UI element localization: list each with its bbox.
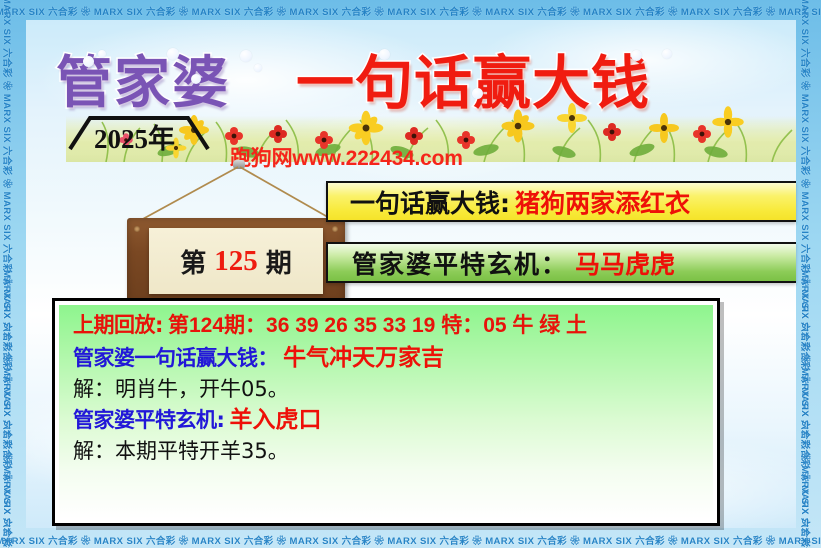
issue-prefix: 第 [180,243,206,280]
issue-suffix: 期 [266,243,292,280]
prev-phrase-value: 牛气冲天万家吉 [283,345,444,371]
prev-phrase-answer-row: 解：明肖牛，开牛05。 [73,379,699,400]
sign-paper: 第 125 期 [149,228,323,294]
bubble-decoration-3 [167,48,179,60]
banner-phrase-label: 一句话赢大钱: [350,189,510,218]
title-zone: 管家婆 一句话赢大钱 [26,20,796,130]
bubble-decoration-2 [98,50,106,58]
bubble-decoration-7 [379,49,390,60]
border-text-bottom: MARX SIX 六合彩 ❀ MARX SIX 六合彩 ❀ MARX SIX 六… [0,533,821,547]
prev-pingte-row: 管家婆平特玄机: 羊入虎口 [73,409,699,432]
prev-pingte-answer: 解：本期平特开羊35。 [73,439,289,463]
banner-pingte-value: 马马虎虎 [575,250,675,279]
issue-number: 125 [214,245,258,278]
sign-board: 第 125 期 [127,218,345,304]
prev-phrase-answer: 解：明肖牛，开牛05。 [73,377,289,401]
prev-pingte-answer-row: 解：本期平特开羊35。 [73,441,699,462]
year-tag: 2025年 [68,115,210,151]
border-text-left-lower: MARX SIX 六合彩 ❀ MARX SIX 六合彩 ❀ MARX SIX 六… [1,270,15,548]
bubble-decoration-9 [631,50,642,61]
border-text-top: MARX SIX 六合彩 ❀ MARX SIX 六合彩 ❀ MARX SIX 六… [0,4,821,18]
replay-label: 上期回放: [73,313,163,337]
page-title-slogan: 一句话赢大钱 [296,36,650,120]
page-title-brand: 管家婆 [56,38,230,119]
content-panel: 上期回放: 第124期：36 39 26 35 33 19 特：05 牛 绿 土… [52,298,720,526]
banner-pingte: 管家婆平特玄机： 马马虎虎 [326,242,796,283]
bubble-decoration-1 [83,56,94,67]
banner-phrase-value: 猪狗两家添红衣 [515,189,690,218]
prev-pingte-value: 羊入虎口 [230,407,322,433]
bubble-decoration-8 [472,88,483,99]
replay-value: 第124期：36 39 26 35 33 19 特：05 牛 绿 土 [168,314,587,337]
prev-pingte-label: 管家婆平特玄机: [73,408,224,432]
prev-phrase-label: 管家婆一句话赢大钱： [73,346,278,370]
bubble-decoration-5 [240,50,252,62]
bubble-decoration-6 [254,64,262,72]
bubble-decoration-4 [191,74,201,84]
poster-root: MARX SIX 六合彩 ❀ MARX SIX 六合彩 ❀ MARX SIX 六… [0,0,821,548]
border-text-right-lower: MARX SIX 六合彩 ❀ MARX SIX 六合彩 ❀ MARX SIX 六… [799,270,813,548]
banner-pingte-label: 管家婆平特玄机： [352,250,568,279]
sky-panel: 管家婆 一句话赢大钱 2025年 跑狗网www.222434.com [26,20,796,528]
prev-phrase-row: 管家婆一句话赢大钱： 牛气冲天万家吉 [73,347,699,370]
hanging-sign: 第 125 期 [121,160,351,310]
bubble-decoration-10 [662,49,672,59]
year-label: 2025年 [94,117,175,156]
banner-phrase: 一句话赢大钱: 猪狗两家添红衣 [326,181,796,222]
replay-row: 上期回放: 第124期：36 39 26 35 33 19 特：05 牛 绿 土 [73,315,699,336]
